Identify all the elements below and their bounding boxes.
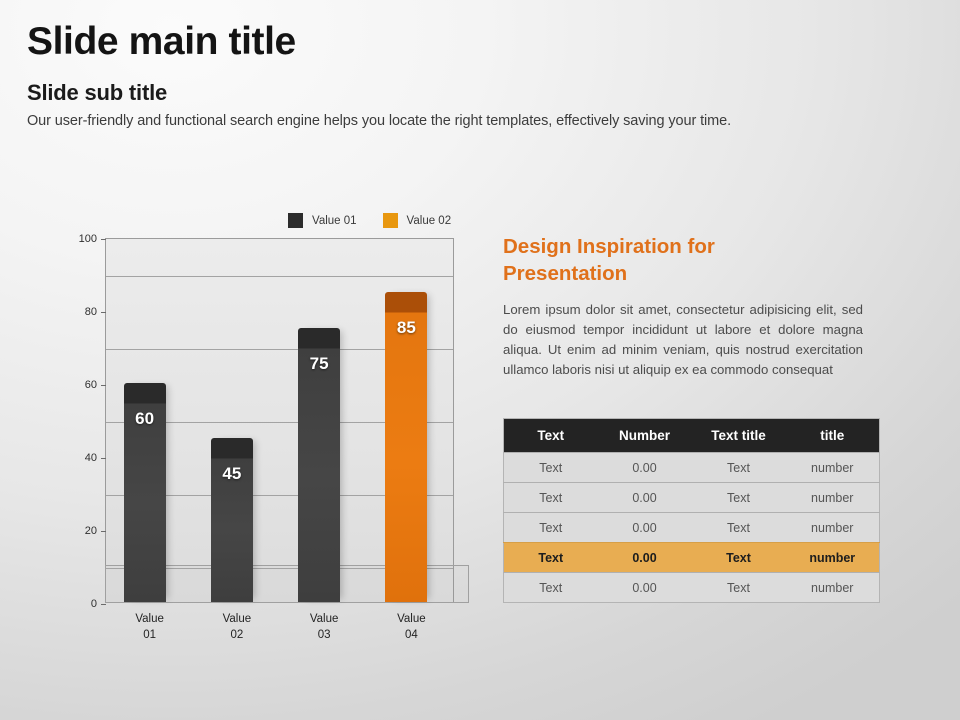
- x-axis-tick-label-line1: Value: [290, 612, 358, 628]
- page-subtitle: Slide sub title: [27, 80, 167, 106]
- legend-item-value-01[interactable]: Value 01: [288, 213, 357, 228]
- lead-paragraph: Our user-friendly and functional search …: [27, 113, 731, 129]
- y-axis-tick-mark: [101, 531, 106, 532]
- legend-label: Value 02: [407, 215, 452, 227]
- bar-group: 85Value04: [385, 237, 437, 602]
- table-cell: Text: [504, 573, 598, 603]
- y-axis-tick-mark: [101, 239, 106, 240]
- y-axis-tick-mark: [101, 604, 106, 605]
- x-axis-tick-label-line2: 01: [116, 628, 184, 644]
- table-cell: number: [786, 513, 880, 543]
- bar-value-label: 75: [298, 354, 340, 374]
- table-row[interactable]: Text0.00Textnumber: [504, 453, 880, 483]
- y-axis-tick-label: 0: [91, 598, 97, 610]
- table-cell: Text: [692, 543, 786, 573]
- bar-value-label: 60: [124, 409, 166, 429]
- table-column-header[interactable]: Text: [504, 419, 598, 453]
- x-axis-tick-label-line1: Value: [116, 612, 184, 628]
- table-cell: 0.00: [598, 573, 692, 603]
- table-head: TextNumberText titletitle: [504, 419, 880, 453]
- table-row[interactable]: Text0.00Textnumber: [504, 483, 880, 513]
- table-cell: number: [786, 483, 880, 513]
- y-axis-tick-mark: [101, 312, 106, 313]
- table-cell: number: [786, 453, 880, 483]
- table-row[interactable]: Text0.00Textnumber: [504, 513, 880, 543]
- chart-plot-area: 020406080100 60Value0145Value0275Value03…: [105, 238, 454, 603]
- y-axis-tick-label: 20: [85, 525, 97, 537]
- x-axis-tick-label-line1: Value: [203, 612, 271, 628]
- legend-label: Value 01: [312, 215, 357, 227]
- x-axis-tick-label-line2: 03: [290, 628, 358, 644]
- table-column-header[interactable]: title: [786, 419, 880, 453]
- slide-canvas: Slide main title Slide sub title Our use…: [0, 0, 960, 720]
- bar-value-label: 85: [385, 318, 427, 338]
- table-cell: Text: [692, 453, 786, 483]
- y-axis-tick-mark: [101, 385, 106, 386]
- legend-item-value-02[interactable]: Value 02: [383, 213, 452, 228]
- legend-swatch-icon: [383, 213, 398, 228]
- table-cell: 0.00: [598, 483, 692, 513]
- table-cell: Text: [504, 513, 598, 543]
- chart-bar[interactable]: 60: [124, 383, 166, 602]
- table-cell: Text: [504, 483, 598, 513]
- table-cell: number: [786, 573, 880, 603]
- table-cell: Text: [692, 483, 786, 513]
- section-paragraph: Lorem ipsum dolor sit amet, consectetur …: [503, 300, 863, 380]
- table-header-row: TextNumberText titletitle: [504, 419, 880, 453]
- legend-swatch-icon: [288, 213, 303, 228]
- chart-bar[interactable]: 45: [211, 438, 253, 602]
- bar-group: 75Value03: [298, 237, 350, 602]
- chart-legend: Value 01 Value 02: [288, 213, 451, 228]
- chart-bar[interactable]: 85: [385, 292, 427, 602]
- y-axis-tick-label: 60: [85, 379, 97, 391]
- table-cell: Text: [692, 573, 786, 603]
- bar-group: 45Value02: [211, 237, 263, 602]
- bar-chart: Value 01 Value 02 020406080100 60Value01…: [60, 205, 480, 645]
- bar-value-label: 45: [211, 464, 253, 484]
- y-axis-tick-label: 100: [79, 233, 97, 245]
- table-column-header[interactable]: Text title: [692, 419, 786, 453]
- bar-group: 60Value01: [124, 237, 176, 602]
- table-column-header[interactable]: Number: [598, 419, 692, 453]
- x-axis-tick-label-line2: 04: [377, 628, 445, 644]
- chart-bar[interactable]: 75: [298, 328, 340, 602]
- table-row[interactable]: Text0.00Textnumber: [504, 573, 880, 603]
- page-title: Slide main title: [27, 22, 296, 63]
- y-axis-tick-mark: [101, 458, 106, 459]
- x-axis-tick-label: Value03: [290, 612, 358, 643]
- y-axis-tick-label: 40: [85, 452, 97, 464]
- x-axis-tick-label: Value04: [377, 612, 445, 643]
- data-table: TextNumberText titletitle Text0.00Textnu…: [503, 418, 880, 603]
- x-axis-tick-label: Value01: [116, 612, 184, 643]
- table-cell: 0.00: [598, 453, 692, 483]
- x-axis-tick-label: Value02: [203, 612, 271, 643]
- table-body: Text0.00TextnumberText0.00TextnumberText…: [504, 453, 880, 603]
- x-axis-tick-label-line1: Value: [377, 612, 445, 628]
- table-cell: Text: [504, 453, 598, 483]
- table-row[interactable]: Text0.00Textnumber: [504, 543, 880, 573]
- table-cell: Text: [504, 543, 598, 573]
- table-cell: 0.00: [598, 513, 692, 543]
- x-axis-tick-label-line2: 02: [203, 628, 271, 644]
- table-cell: number: [786, 543, 880, 573]
- section-heading: Design Inspiration for Presentation: [503, 234, 833, 287]
- table-cell: 0.00: [598, 543, 692, 573]
- y-axis-tick-label: 80: [85, 306, 97, 318]
- table-cell: Text: [692, 513, 786, 543]
